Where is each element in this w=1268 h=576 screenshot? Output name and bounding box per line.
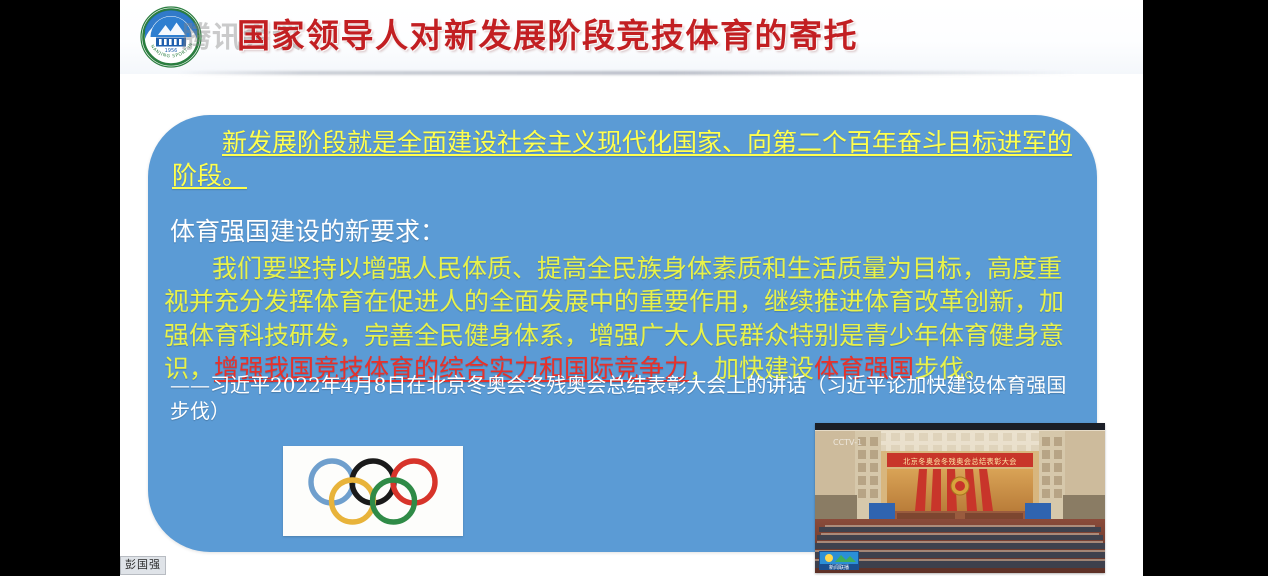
photo-channel-watermark: CCTV-1 [833, 438, 862, 447]
section-heading: 体育强国建设的新要求： [170, 215, 445, 248]
lead-paragraph: 新发展阶段就是全面建设社会主义现代化国家、向第二个百年奋斗目标进军的阶段。 [172, 126, 1077, 193]
body-paragraph: 我们要坚持以增强人民体质、提高全民族身体素质和生活质量为目标，高度重视并充分发挥… [164, 252, 1084, 385]
presenter-name-watermark: 彭国强 [120, 556, 166, 575]
olympic-rings-image [283, 446, 463, 536]
source-citation: ——习近平2022年4月8日在北京冬奥会冬残奥会总结表彰大会上的讲话（习近平论加… [170, 372, 1075, 424]
presentation-slide: 1956 NANJING SPORT INSTITUTE 腾讯会议 国家领导人对… [120, 0, 1143, 576]
slide-header: 1956 NANJING SPORT INSTITUTE 腾讯会议 国家领导人对… [120, 0, 1143, 74]
header-divider [178, 71, 1078, 75]
photo-banner-text: 北京冬奥会冬残奥会总结表彰大会 [903, 457, 1017, 466]
content-panel: 新发展阶段就是全面建设社会主义现代化国家、向第二个百年奋斗目标进军的阶段。 体育… [148, 115, 1097, 552]
photo-station-badge: 新闻联播 [829, 564, 849, 571]
svg-text:1956: 1956 [165, 48, 178, 54]
screen-share-frame: 1956 NANJING SPORT INSTITUTE 腾讯会议 国家领导人对… [0, 0, 1268, 576]
great-hall-conference-photo: 北京冬奥会冬残奥会总结表彰大会 [815, 423, 1105, 573]
page-title: 国家领导人对新发展阶段竞技体育的寄托 [237, 9, 858, 57]
